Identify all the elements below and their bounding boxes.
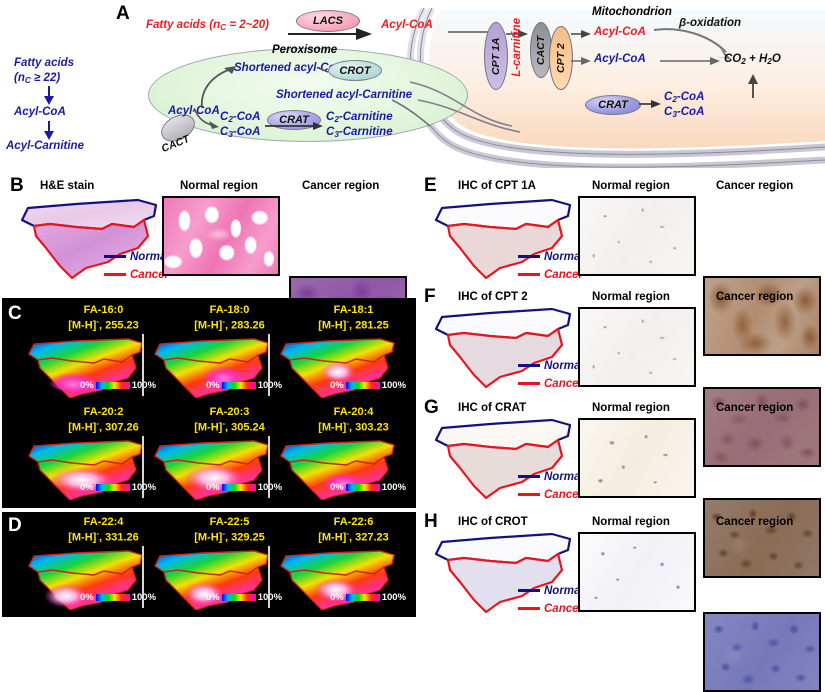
arrow-crat-peroxisome [265,120,325,132]
msi-divider [268,546,270,608]
panel-h-legend-normal: Normal [518,582,584,600]
panel-f-tile1-title: Cancer region [716,291,793,303]
msi-cell-6: FA-22:4 [M-H]-, 331.26 [46,516,161,545]
node-acyl-coa-top: Acyl-CoA [381,19,433,31]
panel-b-legend-cancer: Cancer [104,266,169,284]
panel-f-title: IHC of CPT 2 [458,291,528,303]
arrow-to-co2 [660,55,722,67]
msi-title-6: FA-22:4 [M-H]-, 331.26 [46,516,161,545]
panel-b-label: B [10,176,24,195]
panel-e-title: IHC of CPT 1A [458,180,536,192]
enzyme-crat-mito: CRAT [585,95,641,115]
panel-h-tile1-title: Cancer region [716,516,793,528]
panel-d-msi-grid: D FA-22:4 [M-H]-, 331.26 FA-22:5 [M-H]-,… [2,512,416,617]
panel-b-title: H&E stain [40,180,94,192]
panel-h-tile-normal [578,532,696,612]
arrow-fa-to-acylcoa [42,86,56,106]
panel-e-label: E [424,176,437,195]
node-c2c3-carnitine: C2-CarnitineC3-Carnitine [326,110,393,141]
colorbar-gradient [346,382,380,389]
msi-title-8: FA-22:6 [M-H]-, 327.23 [296,516,411,545]
panel-d-label: D [8,516,22,535]
msi-title-7: FA-22:5 [M-H]-, 329.25 [172,516,287,545]
arrow-to-cpt1a [448,25,490,39]
colorbar-gradient [96,484,130,491]
msi-divider [268,436,270,498]
msi-title-3: FA-20:2 [M-H]-, 307.26 [46,406,161,435]
panel-b-legend-normal: Normal [104,248,170,266]
legend-line-normal [518,255,540,258]
panel-g-tile-normal [578,418,696,498]
msi-divider [268,334,270,396]
colorbar-gradient [222,382,256,389]
legend-line-cancer [518,273,540,276]
colorbar-gradient [96,382,130,389]
colorbar-gradient [222,594,256,601]
enzyme-crot: CROT [328,60,382,81]
msi-divider [142,436,144,498]
node-acyl-carnitine-left: Acyl-Carnitine [6,140,84,152]
msi-colorbar-8: 0% 100% [330,592,406,603]
connector-shortened-acylcarnitine-out [392,98,432,130]
panel-e-tile1-title: Cancer region [716,180,793,192]
node-fatty-acids-long: Fatty acids (nC ≥ 22) [14,56,74,87]
panel-g-legend-cancer: Cancer [518,486,583,504]
panel-b-he-stain: B H&E stain Normal Cancer Normal region … [0,172,418,290]
msi-colorbar-6: 0% 100% [80,592,156,603]
node-c2c3-coa-mito: C2-CoAC3-CoA [664,90,704,121]
arrow-cpt2-acyl-blue [571,55,593,67]
panel-h-label: H [424,512,438,531]
legend-line-cancer [518,493,540,496]
msi-divider [142,334,144,396]
arrow-to-c2c3-coa [192,108,220,130]
msi-colorbar-2: 0% 100% [330,380,406,391]
msi-colorbar-3: 0% 100% [80,482,156,493]
panel-f-tile0-title: Normal region [592,291,670,303]
panel-b-tile0-title: Normal region [180,180,258,192]
connector-crot [318,66,330,76]
panel-g-legend-normal: Normal [518,468,584,486]
msi-cell-5: FA-20:4 [M-H]-, 303.23 [296,406,411,435]
panel-g-ihc-crat: G IHC of CRAT Normal Cancer Normal regio… [420,396,825,506]
node-acyl-coa-mito-blue: Acyl-CoA [594,53,646,65]
arrow-crat-mito [639,98,663,110]
panel-c-msi-grid: C FA-16:0 [M-H]-, 255.23 FA-18:0 [M-H]-,… [2,298,416,508]
panel-f-ihc-cpt2: F IHC of CPT 2 Normal Cancer Normal regi… [420,285,825,395]
msi-colorbar-4: 0% 100% [206,482,282,493]
node-c2c3-coa-peroxisome: C2-CoAC3-CoA [220,110,260,141]
msi-divider [142,546,144,608]
panel-b-tile-normal [162,196,280,276]
panel-f-legend-normal: Normal [518,357,584,375]
panel-f-legend-cancer: Cancer [518,375,583,393]
panel-g-label: G [424,398,439,417]
legend-line-cancer [518,607,540,610]
arrow-to-shortened-acylcoa [186,64,238,110]
msi-cell-2: FA-18:1 [M-H]-, 281.25 [296,304,411,333]
label-beta-oxidation: β-oxidation [679,17,741,29]
panel-g-tile0-title: Normal region [592,402,670,414]
colorbar-gradient [222,484,256,491]
legend-line-normal [104,255,126,258]
panel-e-legend-normal: Normal [518,248,584,266]
panel-h-title: IHC of CROT [458,516,528,528]
transporter-cpt2: CPT 2 [549,26,573,90]
panel-b-tile1-title: Cancer region [302,180,379,192]
legend-line-normal [518,589,540,592]
panel-g-title: IHC of CRAT [458,402,526,414]
legend-line-cancer [104,273,126,276]
panel-e-ihc-cpt1a: E IHC of CPT 1A Normal Cancer Normal reg… [420,172,825,284]
colorbar-gradient [96,594,130,601]
panel-h-ihc-crot: H IHC of CROT Normal Cancer Normal regio… [420,508,825,619]
panel-f-tile-normal [578,307,696,387]
panel-c-label: C [8,304,22,323]
msi-colorbar-7: 0% 100% [206,592,282,603]
node-acyl-coa-left: Acyl-CoA [14,106,66,118]
node-fatty-acids-short: Fatty acids (nC = 2~20) [146,19,269,32]
msi-colorbar-1: 0% 100% [206,380,282,391]
panel-e-tile-normal [578,196,696,276]
msi-title-5: FA-20:4 [M-H]-, 303.23 [296,406,411,435]
panel-a-label: A [116,4,130,23]
enzyme-lacs: LACS [296,10,360,32]
msi-title-4: FA-20:3 [M-H]-, 305.24 [172,406,287,435]
colorbar-gradient [346,484,380,491]
legend-line-cancer [518,382,540,385]
msi-cell-7: FA-22:5 [M-H]-, 329.25 [172,516,287,545]
label-mitochondrion: Mitochondrion [592,6,672,18]
arrow-cpt2-acyl-red [571,28,593,40]
panel-g-tile1-title: Cancer region [716,402,793,414]
msi-colorbar-5: 0% 100% [330,482,406,493]
legend-line-normal [518,364,540,367]
msi-colorbar-0: 0% 100% [80,380,156,391]
msi-title-1: FA-18:0 [M-H]-, 283.26 [172,304,287,333]
panel-a-pathway-diagram: A Fatty acids (nC = 2~20) LACS Acyl-CoA … [0,0,825,168]
panel-e-tile0-title: Normal region [592,180,670,192]
node-co2-h2o: CO2 + H2O [724,53,781,66]
panel-h-tile0-title: Normal region [592,516,670,528]
msi-cell-4: FA-20:3 [M-H]-, 305.24 [172,406,287,435]
panel-f-label: F [424,287,436,306]
transporter-cpt1a: CPT 1A [484,22,508,90]
panel-h-legend-cancer: Cancer [518,600,583,618]
msi-cell-3: FA-20:2 [M-H]-, 307.26 [46,406,161,435]
msi-cell-1: FA-18:0 [M-H]-, 283.26 [172,304,287,333]
panel-h-tile-cancer [703,612,821,692]
legend-line-normal [518,475,540,478]
msi-cell-0: FA-16:0 [M-H]-, 255.23 [46,304,161,333]
node-acyl-coa-mito-red: Acyl-CoA [594,26,646,38]
arrow-acylcoa-to-acylcarnitine [42,121,56,141]
node-l-carnitine: L-carnitine [511,18,523,77]
msi-cell-8: FA-22:6 [M-H]-, 327.23 [296,516,411,545]
arrow-up-to-co2 [746,72,760,98]
msi-title-2: FA-18:1 [M-H]-, 281.25 [296,304,411,333]
panel-e-legend-cancer: Cancer [518,266,583,284]
label-peroxisome: Peroxisome [272,44,337,56]
msi-title-0: FA-16:0 [M-H]-, 255.23 [46,304,161,333]
colorbar-gradient [346,594,380,601]
